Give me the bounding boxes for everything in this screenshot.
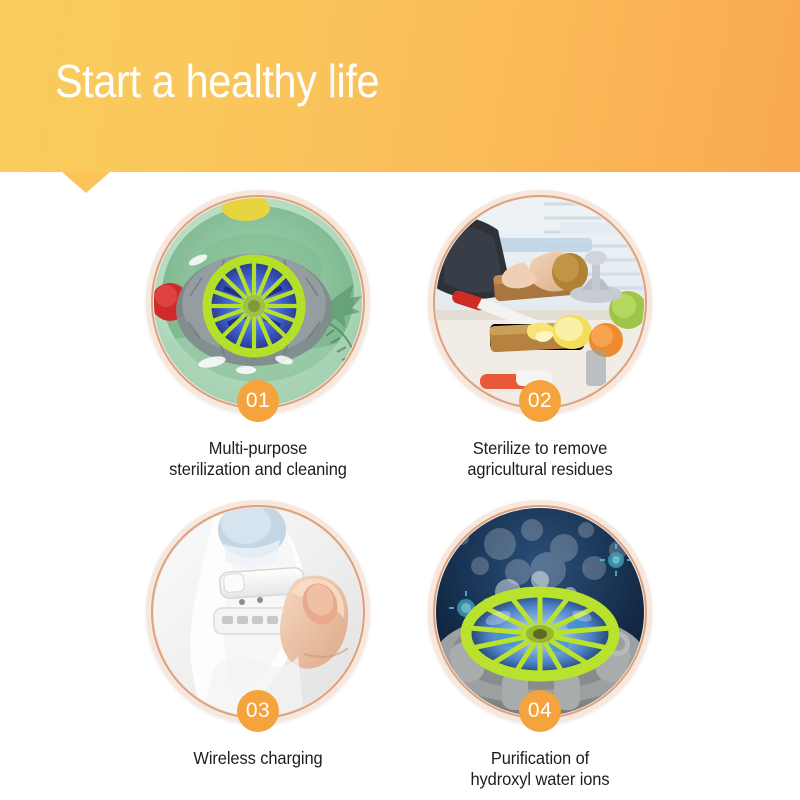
sterilizer-in-basin-of-vegetables-photo bbox=[154, 198, 362, 406]
feature-image-circle-02: 02 bbox=[428, 190, 652, 414]
page-title: Start a healthy life bbox=[55, 52, 379, 110]
feature-badge-01: 01 bbox=[237, 380, 279, 422]
sterilizer-underwater-bubbles-photo bbox=[436, 508, 644, 716]
feature-image-circle-01: 01 bbox=[146, 190, 370, 414]
feature-caption-03: Wireless charging bbox=[125, 748, 390, 769]
banner-notch-arrow bbox=[62, 172, 110, 193]
feature-caption-01: Multi-purpose sterilization and cleaning bbox=[125, 438, 390, 480]
feature-tile-04[interactable]: 04 Purification of hydroxyl water ions bbox=[399, 500, 681, 790]
kitchen-preparing-citrus-fruit-photo bbox=[436, 198, 644, 406]
feature-image-circle-03: 03 bbox=[146, 500, 370, 724]
feature-image-circle-04: 04 bbox=[428, 500, 652, 724]
feature-badge-04: 04 bbox=[519, 690, 561, 732]
feature-caption-02: Sterilize to remove agricultural residue… bbox=[407, 438, 672, 480]
feature-tile-03[interactable]: 03 Wireless charging bbox=[117, 500, 399, 769]
feature-badge-03: 03 bbox=[237, 690, 279, 732]
wireless-charging-cable-photo bbox=[154, 508, 362, 716]
header-banner: Start a healthy life bbox=[0, 0, 800, 172]
feature-tile-02[interactable]: 02 Sterilize to remove agricultural resi… bbox=[399, 190, 681, 480]
feature-badge-02: 02 bbox=[519, 380, 561, 422]
feature-caption-04: Purification of hydroxyl water ions bbox=[407, 748, 672, 790]
feature-tile-01[interactable]: 01 Multi-purpose sterilization and clean… bbox=[117, 190, 399, 480]
feature-grid: 01 Multi-purpose sterilization and clean… bbox=[0, 172, 800, 800]
